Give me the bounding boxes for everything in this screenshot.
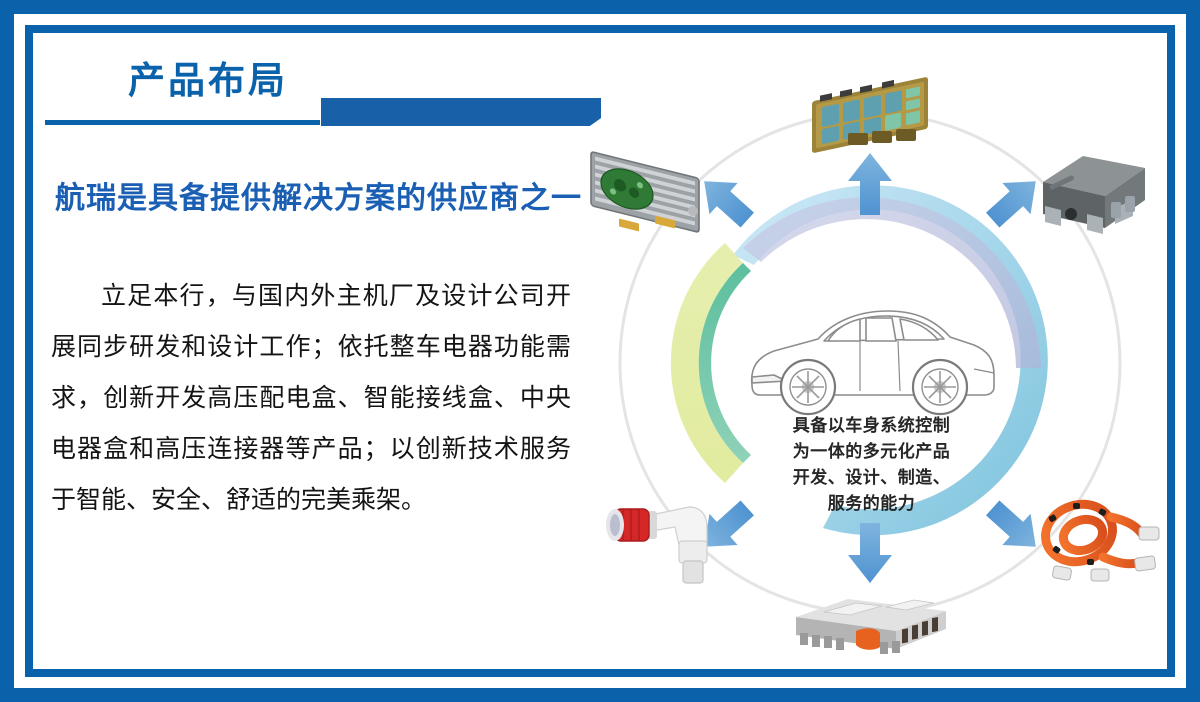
title-block: 产品布局	[33, 58, 633, 138]
center-caption-line-1: 具备以车身系统控制	[759, 413, 984, 439]
title-accent-bar	[321, 98, 601, 126]
heatsink-control-module-icon	[591, 152, 699, 233]
center-caption-line-4: 服务的能力	[759, 491, 984, 517]
body-paragraph: 立足本行，与国内外主机厂及设计公司开展同步研发和设计工作；依托整车电器功能需求，…	[51, 271, 571, 526]
gray-enclosure-box-icon	[1043, 156, 1145, 234]
slide-root: 产品布局 航瑞是具备提供解决方案的供应商之一 立足本行，与国内外主机厂及设计公司…	[0, 0, 1200, 702]
arrow-up-right-icon	[979, 166, 1050, 236]
red-white-hv-connector-icon	[606, 507, 707, 583]
page-title: 产品布局	[128, 58, 288, 104]
orange-hv-cable-harness-icon	[1038, 496, 1159, 581]
green-gradient-arc	[671, 243, 751, 483]
arrow-up-left-icon	[690, 166, 761, 236]
sedan-car-line-drawing	[752, 311, 994, 414]
relay-junction-board-icon	[812, 73, 928, 154]
arrow-down-right-icon	[979, 492, 1050, 562]
center-caption-line-2: 为一体的多元化产品	[759, 439, 984, 465]
section-heading: 航瑞是具备提供解决方案的供应商之一	[55, 173, 582, 217]
center-caption: 具备以车身系统控制 为一体的多元化产品 开发、设计、制造、 服务的能力	[759, 413, 984, 517]
product-layout-diagram: 具备以车身系统控制 为一体的多元化产品 开发、设计、制造、 服务的能力	[573, 63, 1167, 663]
center-caption-line-3: 开发、设计、制造、	[759, 465, 984, 491]
slide-canvas: 产品布局 航瑞是具备提供解决方案的供应商之一 立足本行，与国内外主机厂及设计公司…	[33, 33, 1167, 669]
title-underline-rule	[45, 120, 320, 125]
